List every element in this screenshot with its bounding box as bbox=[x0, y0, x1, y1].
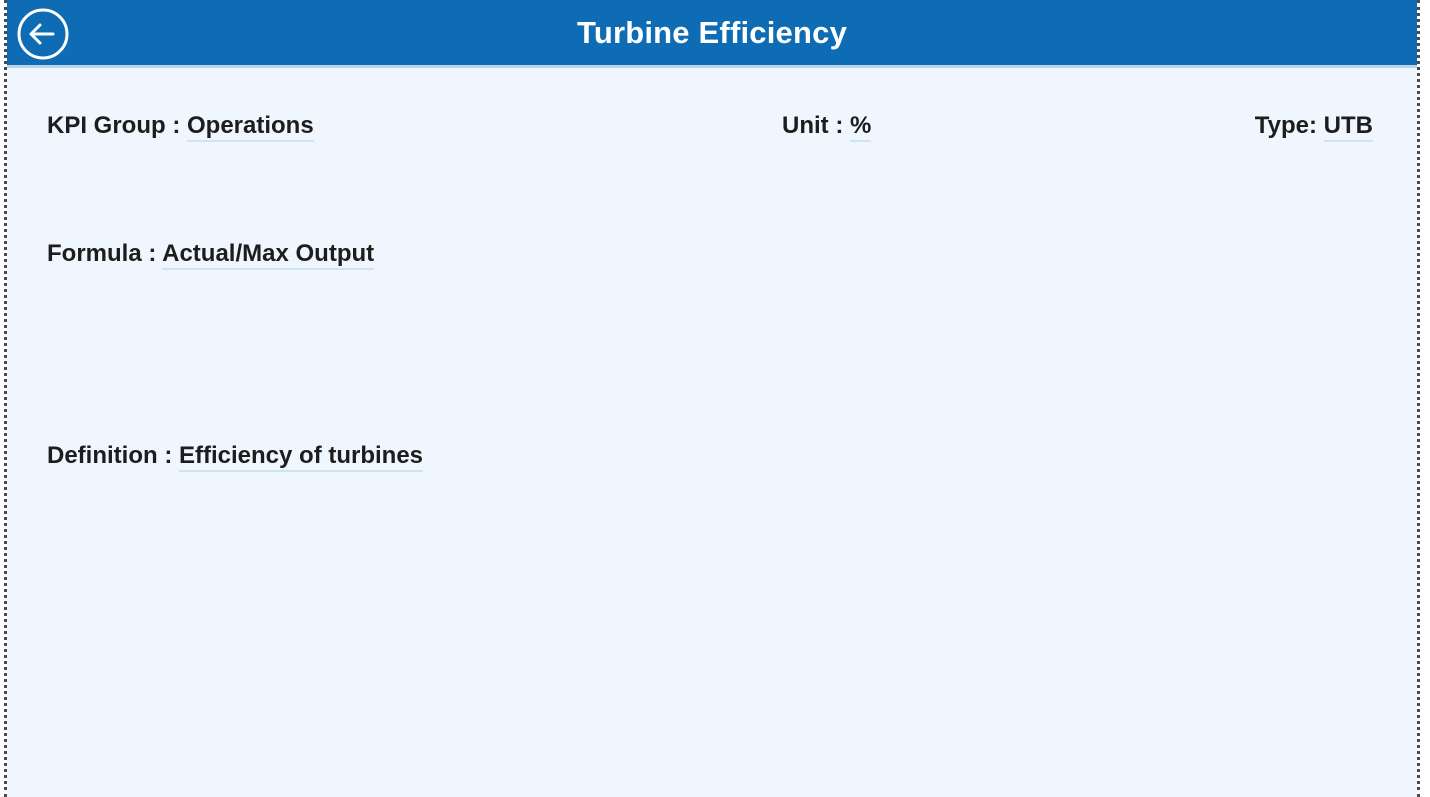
type-label: Type: bbox=[1255, 112, 1317, 139]
kpi-group-value[interactable]: Operations bbox=[187, 112, 314, 142]
definition-value[interactable]: Efficiency of turbines bbox=[179, 442, 423, 472]
app-frame: Turbine Efficiency KPI Group : Operation… bbox=[4, 0, 1420, 797]
type-value[interactable]: UTB bbox=[1324, 112, 1373, 142]
title-bar: Turbine Efficiency bbox=[7, 0, 1417, 68]
field-formula: Formula : Actual/Max Output bbox=[47, 236, 374, 272]
formula-value[interactable]: Actual/Max Output bbox=[162, 240, 374, 270]
field-definition: Definition : Efficiency of turbines bbox=[47, 438, 423, 474]
field-kpi-group: KPI Group : Operations bbox=[47, 108, 314, 144]
field-type: Type: UTB bbox=[1255, 108, 1373, 144]
unit-value[interactable]: % bbox=[850, 112, 871, 142]
formula-label: Formula : bbox=[47, 240, 156, 267]
definition-label: Definition : bbox=[47, 442, 172, 469]
page-title: Turbine Efficiency bbox=[7, 0, 1417, 65]
unit-label: Unit : bbox=[782, 112, 843, 139]
kpi-group-label: KPI Group : bbox=[47, 112, 180, 139]
content-area: KPI Group : Operations Unit : % Type: UT… bbox=[7, 68, 1417, 797]
field-row-formula: Formula : Actual/Max Output bbox=[7, 236, 1417, 272]
field-row-primary: KPI Group : Operations Unit : % Type: UT… bbox=[7, 108, 1417, 144]
field-row-definition: Definition : Efficiency of turbines bbox=[7, 438, 1417, 474]
field-unit: Unit : % bbox=[782, 108, 871, 144]
